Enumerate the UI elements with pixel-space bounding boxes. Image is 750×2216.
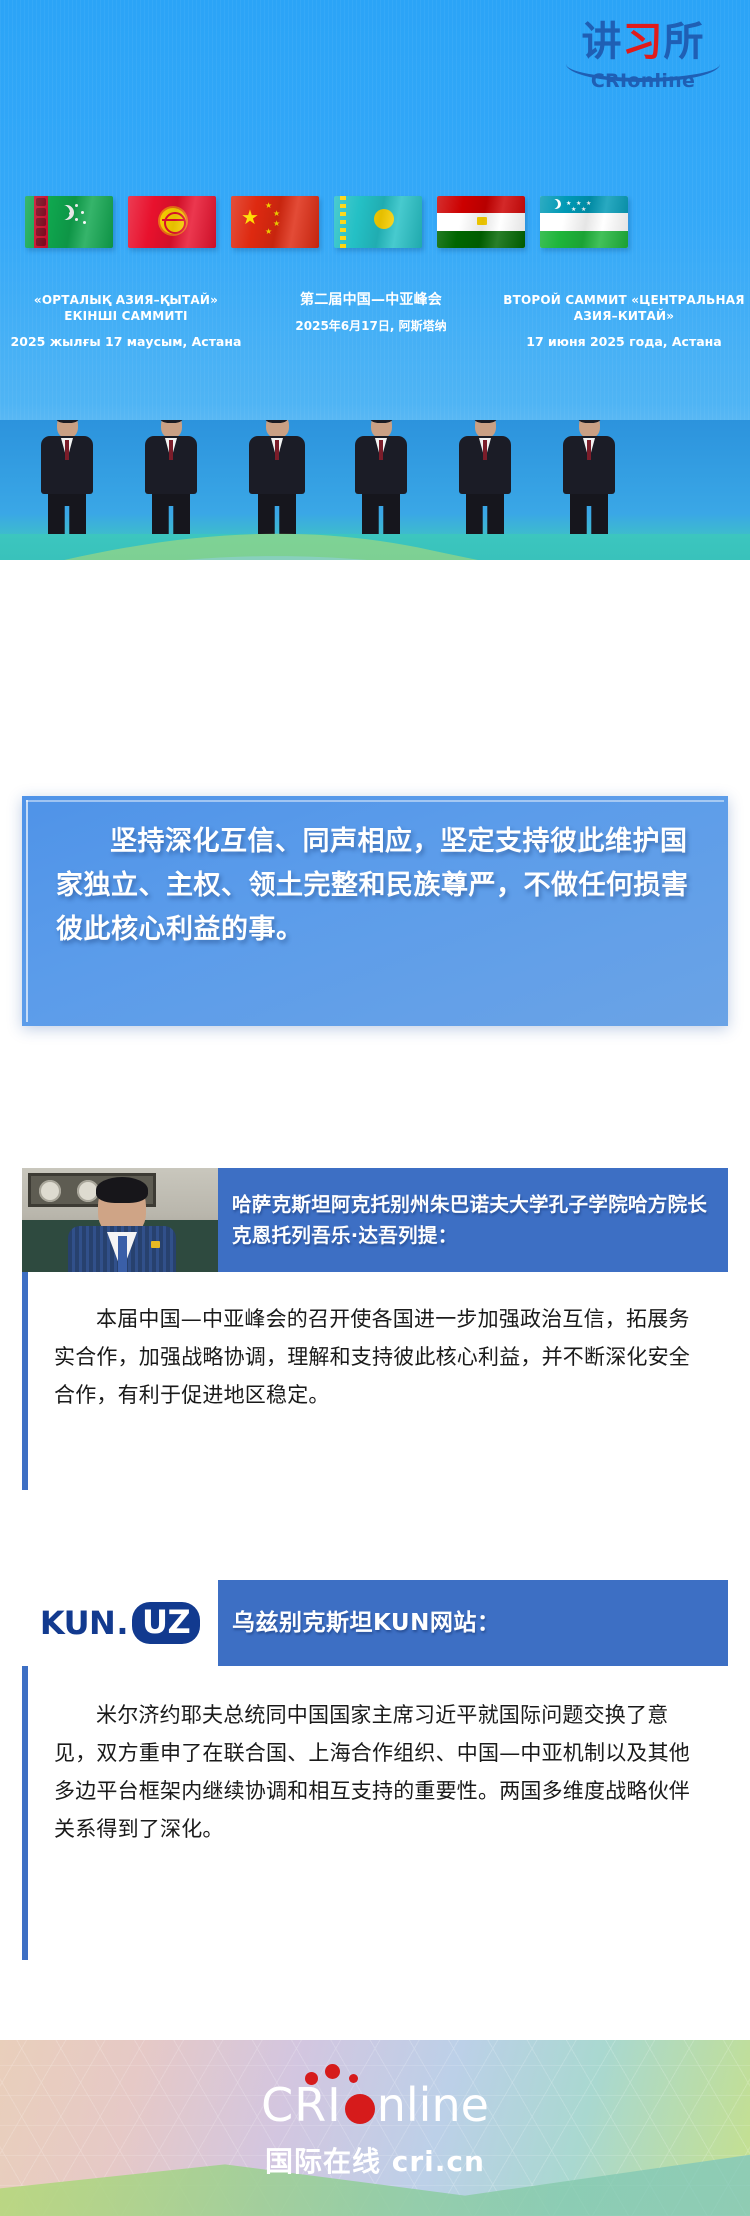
kun-title-box: 乌兹别克斯坦KUN网站：	[218, 1580, 728, 1666]
quote-card-edge-top	[26, 800, 724, 802]
expert-body-text: 本届中国—中亚峰会的召开使各国进一步加强政治互信，拓展务实合作，加强战略协调，理…	[28, 1272, 728, 1414]
leader-figure	[456, 420, 514, 534]
uz-crescent-icon	[548, 199, 558, 209]
kun-title: 乌兹别克斯坦KUN网站：	[218, 1606, 514, 1640]
footer-logo-bubbles-icon	[303, 2064, 373, 2094]
leader-figure	[352, 420, 410, 534]
cn-big-star-icon: ★	[241, 207, 259, 227]
brand-char-3: 所	[664, 18, 705, 65]
caption-russian-date: 17 июня 2025 года, Астана	[500, 334, 748, 350]
brand-char-1: 讲	[582, 18, 623, 65]
leader-figure	[142, 420, 200, 534]
caption-kazakh-title: «ОРТАЛЫҚ АЗИЯ–ҚЫТАЙ» ЕКІНШІ САММИТІ	[6, 292, 246, 324]
caption-chinese-title: 第二届中国—中亚峰会	[246, 292, 496, 308]
brand-logo[interactable]: 讲习所 CRIonline	[558, 20, 728, 98]
kun-uz-card: KUN.UZ 乌兹别克斯坦KUN网站： 米尔济约耶夫总统同中国国家主席习近平就国…	[22, 1580, 728, 1960]
footer-section: CRI nline 国际在线 cri.cn	[0, 2040, 750, 2216]
tj-crown-icon	[477, 217, 487, 225]
caption-kazakh-date: 2025 жылғы 17 маусым, Астана	[6, 334, 246, 350]
tajikistan-flag	[437, 196, 525, 248]
wave-divider	[0, 520, 750, 560]
leader-figure	[560, 420, 618, 534]
caption-russian: ВТОРОЙ САММИТ «ЦЕНТРАЛЬНАЯ АЗИЯ–КИТАЙ» 1…	[500, 292, 748, 350]
expert-portrait	[22, 1168, 218, 1272]
flags-row: ★ ★ ★ ★ ★ ★ ★ ★ ★ ★	[0, 196, 750, 254]
quote-text: 坚持深化互信、同声相应，坚定支持彼此维护国家独立、主权、领土完整和民族尊严，不做…	[56, 820, 698, 952]
lapel-pin-icon	[151, 1241, 160, 1248]
kun-logo-badge: UZ	[132, 1602, 200, 1644]
expert-card-header: 哈萨克斯坦阿克托别州朱巴诺夫大学孔子学院哈方院长克恩托列吾乐·达吾列提：	[22, 1168, 728, 1272]
kun-card-header: KUN.UZ 乌兹别克斯坦KUN网站：	[22, 1580, 728, 1666]
expert-quote-card: 哈萨克斯坦阿克托别州朱巴诺夫大学孔子学院哈方院长克恩托列吾乐·达吾列提： 本届中…	[22, 1168, 728, 1490]
china-flag: ★ ★ ★ ★ ★	[231, 196, 319, 248]
hero-section: 讲习所 CRIonline ★ ★ ★ ★ ★	[0, 0, 750, 560]
caption-russian-title: ВТОРОЙ САММИТ «ЦЕНТРАЛЬНАЯ АЗИЯ–КИТАЙ»	[500, 292, 748, 324]
expert-person	[68, 1180, 176, 1272]
uzbekistan-flag: ★ ★ ★ ★ ★	[540, 196, 628, 248]
expert-body: 本届中国—中亚峰会的召开使各国进一步加强政治互信，拓展务实合作，加强战略协调，理…	[22, 1272, 728, 1490]
kazakhstan-flag	[334, 196, 422, 248]
kz-ornament	[340, 196, 346, 248]
leader-figure	[38, 420, 96, 534]
footer-logo-nline: nline	[377, 2082, 489, 2128]
kun-logo-main: KUN	[40, 1604, 116, 1642]
footer-logo[interactable]: CRI nline	[0, 2082, 750, 2128]
kun-uz-logo[interactable]: KUN.UZ	[22, 1580, 218, 1666]
expert-title-box: 哈萨克斯坦阿克托别州朱巴诺夫大学孔子学院哈方院长克恩托列吾乐·达吾列提：	[218, 1168, 728, 1272]
kz-sun-icon	[374, 209, 394, 229]
kun-body-text: 米尔济约耶夫总统同中国国家主席习近平就国际问题交换了意见，双方重申了在联合国、上…	[28, 1666, 728, 1848]
brand-logo-chinese: 讲习所	[558, 20, 728, 64]
caption-chinese: 第二届中国—中亚峰会 2025年6月17日, 阿斯塔纳	[246, 292, 496, 334]
turkmenistan-flag	[25, 196, 113, 248]
quote-card: 坚持深化互信、同声相应，坚定支持彼此维护国家独立、主权、领土完整和民族尊严，不做…	[22, 796, 728, 1026]
footer-subtitle: 国际在线 cri.cn	[0, 2140, 750, 2180]
footer-logo-o-dot-icon	[345, 2094, 375, 2124]
leader-figure	[248, 420, 306, 534]
brand-char-red: 习	[623, 18, 664, 65]
quote-card-edge	[26, 800, 28, 1022]
tm-crescent-icon	[55, 205, 70, 220]
caption-kazakh: «ОРТАЛЫҚ АЗИЯ–ҚЫТАЙ» ЕКІНШІ САММИТІ 2025…	[6, 292, 246, 350]
kg-sun-icon	[160, 208, 186, 234]
kun-body: 米尔济约耶夫总统同中国国家主席习近平就国际问题交换了意见，双方重申了在联合国、上…	[22, 1666, 728, 1960]
expert-title: 哈萨克斯坦阿克托别州朱巴诺夫大学孔子学院哈方院长克恩托列吾乐·达吾列提：	[218, 1189, 728, 1251]
kyrgyzstan-flag	[128, 196, 216, 248]
tm-band	[34, 196, 48, 248]
kun-logo-dot: .	[116, 1604, 128, 1642]
caption-chinese-date: 2025年6月17日, 阿斯塔纳	[246, 318, 496, 334]
